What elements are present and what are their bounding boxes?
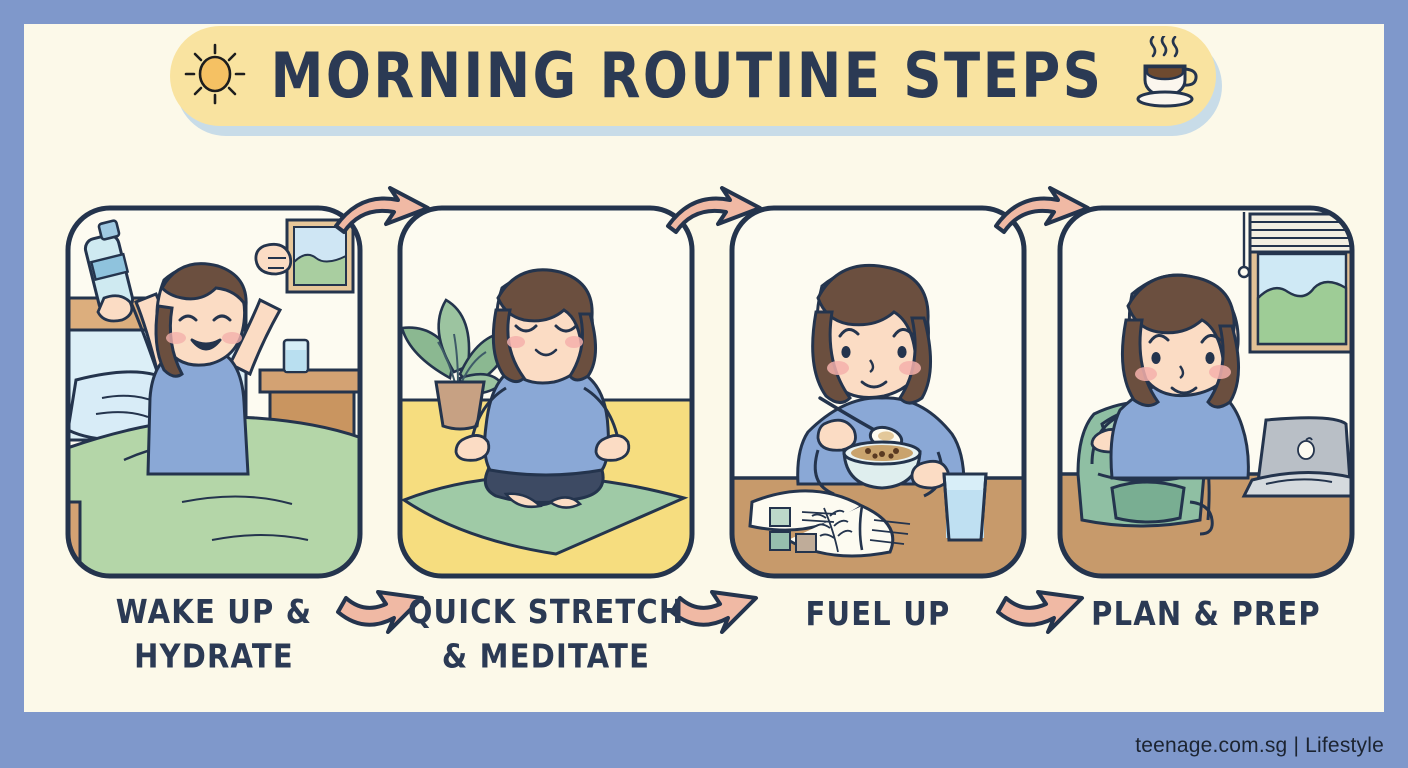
- step-caption-1-line1: Wake Up &: [116, 593, 313, 631]
- step-captions: Wake Up & Hydrate Quick Stretch & Medita…: [24, 594, 1384, 700]
- banner-body: Morning Routine Steps: [170, 26, 1216, 126]
- step-panel-2[interactable]: [394, 202, 698, 582]
- curved-arrow-right-icon: [328, 186, 436, 242]
- step-caption-2-line2: & Meditate: [394, 634, 698, 679]
- title-banner: Morning Routine Steps: [170, 26, 1222, 138]
- step-caption-2-line1: Quick Stretch: [408, 593, 685, 631]
- coffee-cup-icon: [1127, 36, 1203, 117]
- step-caption-3: Fuel Up: [726, 592, 1030, 637]
- step-caption-1-line2: Hydrate: [62, 634, 366, 679]
- infographic-root: Morning Routine Steps: [0, 0, 1408, 768]
- sun-icon: [183, 42, 247, 111]
- step-caption-3-line1: Fuel Up: [806, 595, 951, 633]
- page-title: Morning Routine Steps: [271, 40, 1104, 112]
- curved-arrow-right-icon: [660, 186, 768, 242]
- footer-credit: teenage.com.sg | Lifestyle: [1135, 734, 1384, 758]
- step-caption-4: Plan & Prep: [1054, 592, 1358, 637]
- step-caption-4-line1: Plan & Prep: [1091, 595, 1321, 633]
- step-panel-3[interactable]: [726, 202, 1030, 582]
- step-panel-4[interactable]: [1054, 202, 1358, 582]
- step-panel-1[interactable]: [62, 202, 366, 582]
- curved-arrow-right-icon: [988, 186, 1096, 242]
- step-caption-2: Quick Stretch & Meditate: [394, 589, 698, 679]
- steps-panel-row: [24, 202, 1384, 582]
- step-caption-1: Wake Up & Hydrate: [62, 589, 366, 679]
